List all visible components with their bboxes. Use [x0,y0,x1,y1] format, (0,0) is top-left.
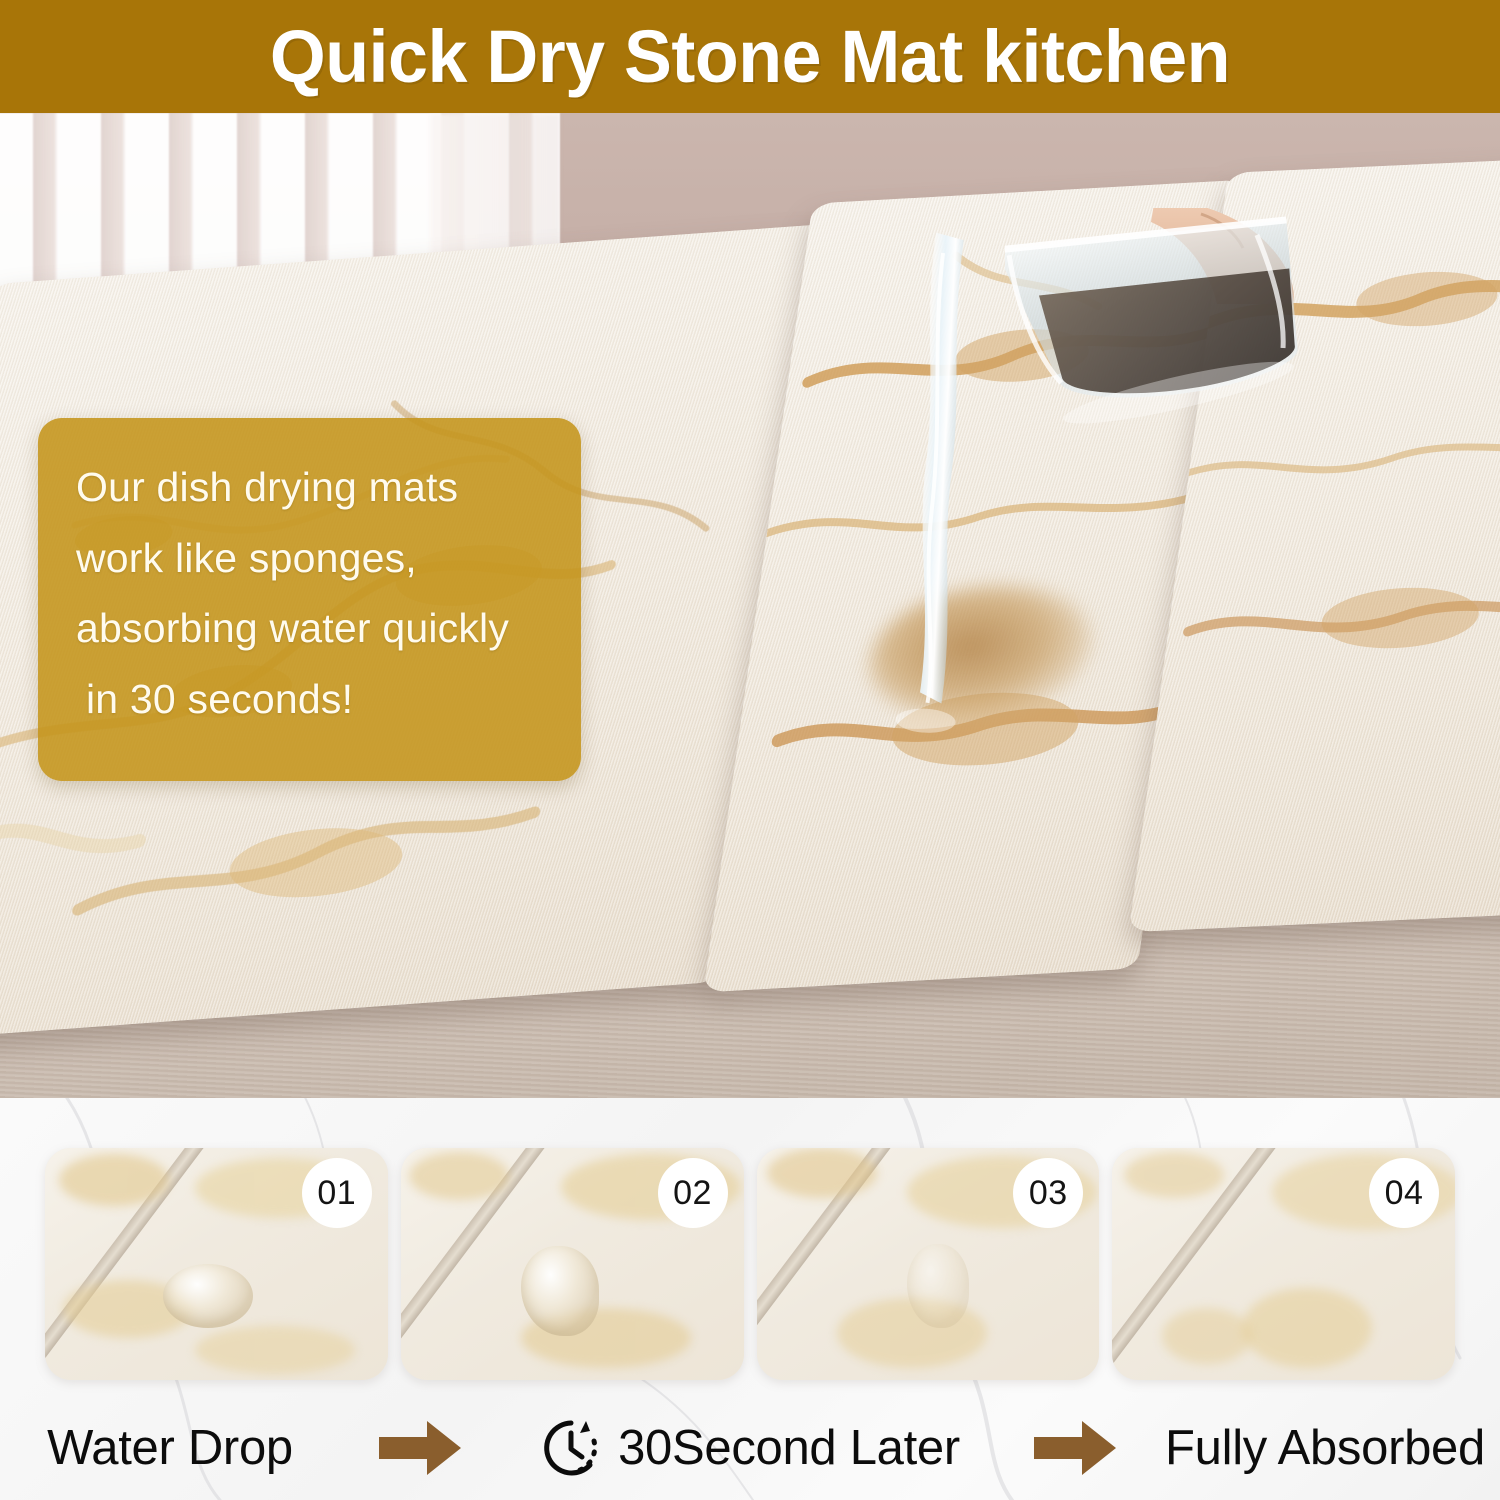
gold-vein [1242,1288,1372,1368]
step-thumbnail-row: 01 02 [0,1148,1500,1380]
gold-vein [1162,1308,1252,1364]
callout-line-3: absorbing water quickly [76,593,547,664]
gold-vein [409,1152,509,1200]
clock-icon [540,1417,602,1479]
callout-line-4: in 30 seconds! [76,664,547,735]
step-badge-label: 02 [673,1174,712,1213]
arrow-right-icon [1032,1419,1118,1477]
step-badge: 04 [1369,1158,1439,1228]
caption-label: Water Drop [47,1420,293,1476]
gold-vein [1124,1152,1224,1198]
water-droplet [163,1264,253,1328]
caption-label: Fully Absorbed [1165,1420,1485,1476]
step-caption-row: Water Drop 30Second Later [0,1398,1500,1498]
gold-vein [195,1326,355,1374]
step-thumbnail-03[interactable]: 03 [757,1148,1100,1380]
callout-line-2: work like sponges, [76,523,547,594]
caption-label: 30Second Later [618,1420,960,1476]
caption-30-second-later: 30Second Later [500,1417,1000,1479]
step-badge: 03 [1013,1158,1083,1228]
arrow-1 [340,1419,500,1477]
glass-of-water [1005,208,1335,438]
page-title: Quick Dry Stone Mat kitchen [270,20,1230,94]
arrow-2 [1000,1419,1150,1477]
absorption-steps-panel: 01 02 [0,1098,1500,1500]
callout-line-1: Our dish drying mats [76,452,547,523]
header-banner: Quick Dry Stone Mat kitchen [0,0,1500,113]
callout-box: Our dish drying mats work like sponges, … [38,418,581,781]
caption-fully-absorbed: Fully Absorbed [1150,1420,1500,1476]
gold-vein [767,1148,877,1198]
caption-water-drop: Water Drop [0,1420,340,1476]
step-badge-label: 04 [1385,1174,1424,1213]
step-badge-label: 03 [1029,1174,1068,1213]
step-thumbnail-01[interactable]: 01 [45,1148,388,1380]
arrow-right-icon [377,1419,463,1477]
hero-photo: Our dish drying mats work like sponges, … [0,113,1500,1098]
product-marketing-image: Quick Dry Stone Mat kitchen [0,0,1500,1500]
step-thumbnail-04[interactable]: 04 [1112,1148,1455,1380]
step-thumbnail-02[interactable]: 02 [401,1148,744,1380]
step-badge-label: 01 [317,1174,356,1213]
gold-vein [59,1154,169,1206]
step-badge: 02 [658,1158,728,1228]
step-badge: 01 [302,1158,372,1228]
